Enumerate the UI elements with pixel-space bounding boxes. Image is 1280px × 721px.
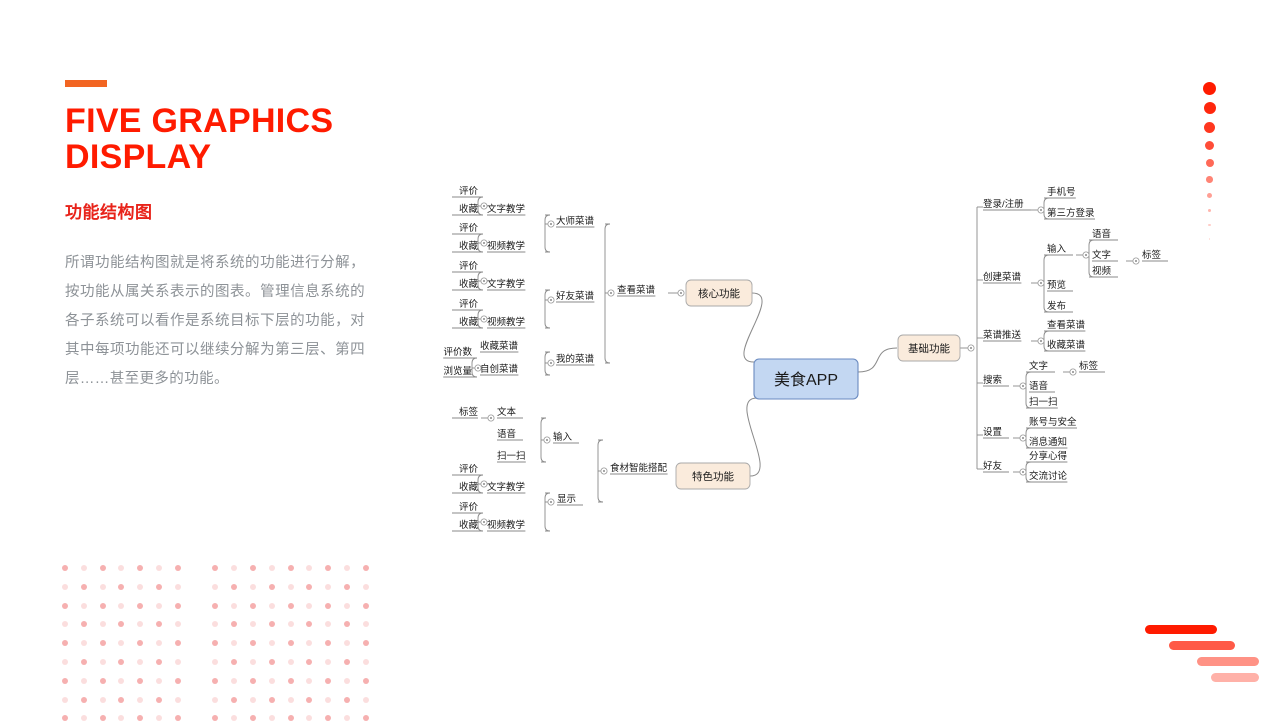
- mindmap-connector: [545, 493, 550, 531]
- mindmap-leaf-label[interactable]: 食材智能搭配: [610, 462, 668, 474]
- mindmap-root-node-label: 美食APP: [774, 371, 838, 389]
- mindmap-nodes: 评价收藏评价收藏评价收藏评价收藏文字教学视频教学文字教学视频教学收藏菜谱自创菜谱…: [443, 186, 1161, 531]
- mindmap-leaf-label[interactable]: 收藏菜谱: [1047, 339, 1086, 351]
- mindmap-node-label[interactable]: 文字教学: [487, 278, 525, 290]
- mindmap-collapse-dot: [550, 299, 552, 301]
- mindmap-leaf-label[interactable]: 浏览量: [443, 365, 472, 377]
- mindmap-leaf-label[interactable]: 收藏: [459, 240, 479, 252]
- mindmap-leaf-label[interactable]: 显示: [557, 494, 576, 505]
- mindmap-leaf-label[interactable]: 我的菜谱: [556, 353, 595, 365]
- mindmap-leaf-label[interactable]: 收藏菜谱: [480, 340, 519, 352]
- mindmap-leaf-label[interactable]: 文字教学: [487, 481, 525, 493]
- mindmap-branch-core-label: 核心功能: [698, 287, 740, 300]
- mindmap-leaf-label[interactable]: 菜谱推送: [983, 329, 1022, 341]
- mindmap-leaf-label[interactable]: 收藏: [459, 316, 479, 328]
- mindmap-leaf-label[interactable]: 文字: [1029, 360, 1048, 372]
- mindmap-leaf-label[interactable]: 文字: [1092, 249, 1111, 261]
- mindmap-leaf-label[interactable]: 视频: [1092, 265, 1112, 277]
- mindmap-collapse-dot: [550, 223, 552, 225]
- mindmap-collapse-dot: [970, 347, 972, 349]
- mindmap-leaf-label[interactable]: 收藏: [459, 278, 479, 290]
- mindmap-leaf-label[interactable]: 评价: [459, 186, 479, 197]
- mindmap-leaf-label[interactable]: 语音: [497, 428, 516, 440]
- mindmap-leaf-label[interactable]: 语音: [1092, 228, 1111, 240]
- mindmap-leaf-label[interactable]: 交流讨论: [1029, 470, 1068, 482]
- mindmap-collapse-dot: [1040, 282, 1042, 284]
- mindmap-leaf-label[interactable]: 好友: [983, 460, 1003, 472]
- mindmap-leaf-label[interactable]: 评价: [459, 299, 479, 310]
- mindmap-collapse-dot: [550, 362, 552, 364]
- mindmap-collapse-dot: [483, 280, 485, 282]
- mindmap-collapse-dot: [483, 483, 485, 485]
- mindmap-node-label[interactable]: 文字教学: [487, 203, 525, 215]
- mindmap-leaf-label[interactable]: 语音: [1029, 380, 1048, 392]
- mindmap-leaf-label[interactable]: 评价: [459, 502, 479, 513]
- mindmap-leaf-label[interactable]: 视频教学: [487, 519, 525, 531]
- mindmap-leaf-label[interactable]: 输入: [1047, 243, 1067, 255]
- mindmap-leaf-label[interactable]: 账号与安全: [1029, 416, 1077, 428]
- mindmap-leaf-label[interactable]: 评价: [459, 464, 479, 475]
- mindmap-leaf-label[interactable]: 登录/注册: [983, 198, 1024, 210]
- mindmap-collapse-dot: [477, 367, 479, 369]
- mindmap-collapse-dot: [1022, 471, 1024, 473]
- mindmap-node-label[interactable]: 视频教学: [487, 316, 525, 328]
- mindmap-collapse-dot: [550, 501, 552, 503]
- mindmap-connector: [545, 290, 550, 328]
- mindmap-collapse-dot: [483, 521, 485, 523]
- mindmap-collapse-dot: [1072, 371, 1074, 373]
- mindmap-leaf-label[interactable]: 搜索: [983, 374, 1002, 386]
- mindmap-leaf-label[interactable]: 收藏: [459, 481, 479, 493]
- mindmap-leaf-label[interactable]: 标签: [1142, 249, 1162, 261]
- mindmap-collapse-dot: [1022, 385, 1024, 387]
- mindmap-connector-curve: [858, 348, 897, 372]
- mindmap-leaf-label[interactable]: 扫一扫: [1029, 396, 1058, 408]
- mindmap-leaf-label[interactable]: 手机号: [1047, 186, 1076, 198]
- mindmap-collapse-dot: [610, 292, 612, 294]
- mindmap-leaf-label[interactable]: 发布: [1047, 300, 1066, 312]
- mindmap-collapse-dot: [1040, 209, 1042, 211]
- mindmap-leaf-label[interactable]: 输入: [553, 431, 573, 443]
- mindmap-leaf-label[interactable]: 扫一扫: [497, 450, 526, 462]
- mindmap-leaf-label[interactable]: 查看菜谱: [1047, 319, 1086, 331]
- mindmap-leaf-label[interactable]: 好友菜谱: [556, 290, 595, 302]
- mindmap-leaf-label[interactable]: 评价数: [443, 346, 472, 358]
- mindmap-collapse-dot: [1040, 340, 1042, 342]
- mindmap-leaf-label[interactable]: 标签: [459, 406, 479, 418]
- mindmap-collapse-dot: [680, 292, 682, 294]
- mindmap-branch-basic-label: 基础功能: [908, 342, 950, 355]
- mindmap-node-label[interactable]: 视频教学: [487, 240, 525, 252]
- mindmap-leaf-label[interactable]: 大师菜谱: [556, 215, 595, 227]
- mindmap-leaf-label[interactable]: 设置: [983, 427, 1002, 438]
- mindmap-collapse-dot: [603, 470, 605, 472]
- mindmap-leaf-label[interactable]: 查看菜谱: [617, 284, 656, 296]
- mindmap-branch-feature-label: 特色功能: [692, 470, 734, 483]
- mindmap-leaf-label[interactable]: 分享心得: [1029, 450, 1068, 462]
- mindmap-collapse-dot: [483, 242, 485, 244]
- mindmap-leaf-label[interactable]: 第三方登录: [1047, 207, 1095, 219]
- mindmap-leaf-label[interactable]: 创建菜谱: [983, 271, 1022, 283]
- mindmap-leaf-label[interactable]: 消息通知: [1029, 436, 1067, 448]
- mindmap-connector: [545, 215, 550, 252]
- mindmap-leaf-label[interactable]: 文本: [497, 406, 517, 418]
- mindmap-leaf-label[interactable]: 标签: [1079, 360, 1099, 372]
- function-structure-mindmap: 评价收藏评价收藏评价收藏评价收藏文字教学视频教学文字教学视频教学收藏菜谱自创菜谱…: [0, 0, 1280, 720]
- mindmap-leaf-label[interactable]: 收藏: [459, 203, 479, 215]
- mindmap-leaf-label[interactable]: 评价: [459, 223, 479, 234]
- mindmap-collapse-dot: [1085, 254, 1087, 256]
- mindmap-leaf-label[interactable]: 自创菜谱: [480, 363, 519, 375]
- mindmap-collapse-dot: [1022, 437, 1024, 439]
- mindmap-collapse-dot: [490, 417, 492, 419]
- mindmap-collapse-dot: [483, 318, 485, 320]
- mindmap-collapse-dot: [546, 439, 548, 441]
- mindmap-leaf-label[interactable]: 预览: [1047, 279, 1066, 291]
- mindmap-collapse-dot: [483, 205, 485, 207]
- mindmap-leaf-label[interactable]: 收藏: [459, 519, 479, 531]
- mindmap-leaf-label[interactable]: 评价: [459, 261, 479, 272]
- mindmap-collapse-dot: [1135, 260, 1137, 262]
